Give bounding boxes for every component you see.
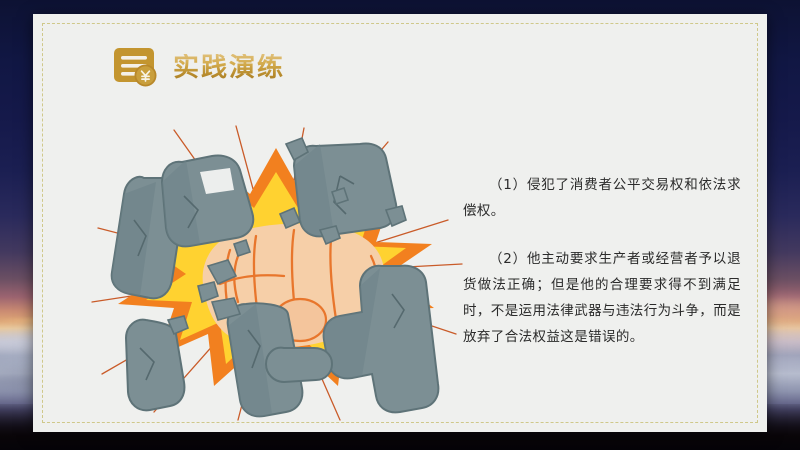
- slide-card: 实践演练: [33, 14, 767, 432]
- paragraph-2: （2）他主动要求生产者或经营者予以退货做法正确；但是他的合理要求得不到满足时，不…: [463, 246, 741, 350]
- paragraph-1: （1）侵犯了消费者公平交易权和依法求偿权。: [463, 172, 741, 224]
- fist-smashing-315-illustration: [88, 124, 468, 424]
- document-yuan-icon: [113, 46, 159, 90]
- slide-title-row: 实践演练: [113, 46, 285, 90]
- stone-fragment-bar: [266, 348, 332, 382]
- slide-stage: 实践演练: [0, 0, 800, 450]
- page-title: 实践演练: [173, 54, 285, 83]
- body-text-column: （1）侵犯了消费者公平交易权和依法求偿权。 （2）他主动要求生产者或经营者予以退…: [463, 172, 741, 350]
- stone-numeral-3: [162, 156, 253, 247]
